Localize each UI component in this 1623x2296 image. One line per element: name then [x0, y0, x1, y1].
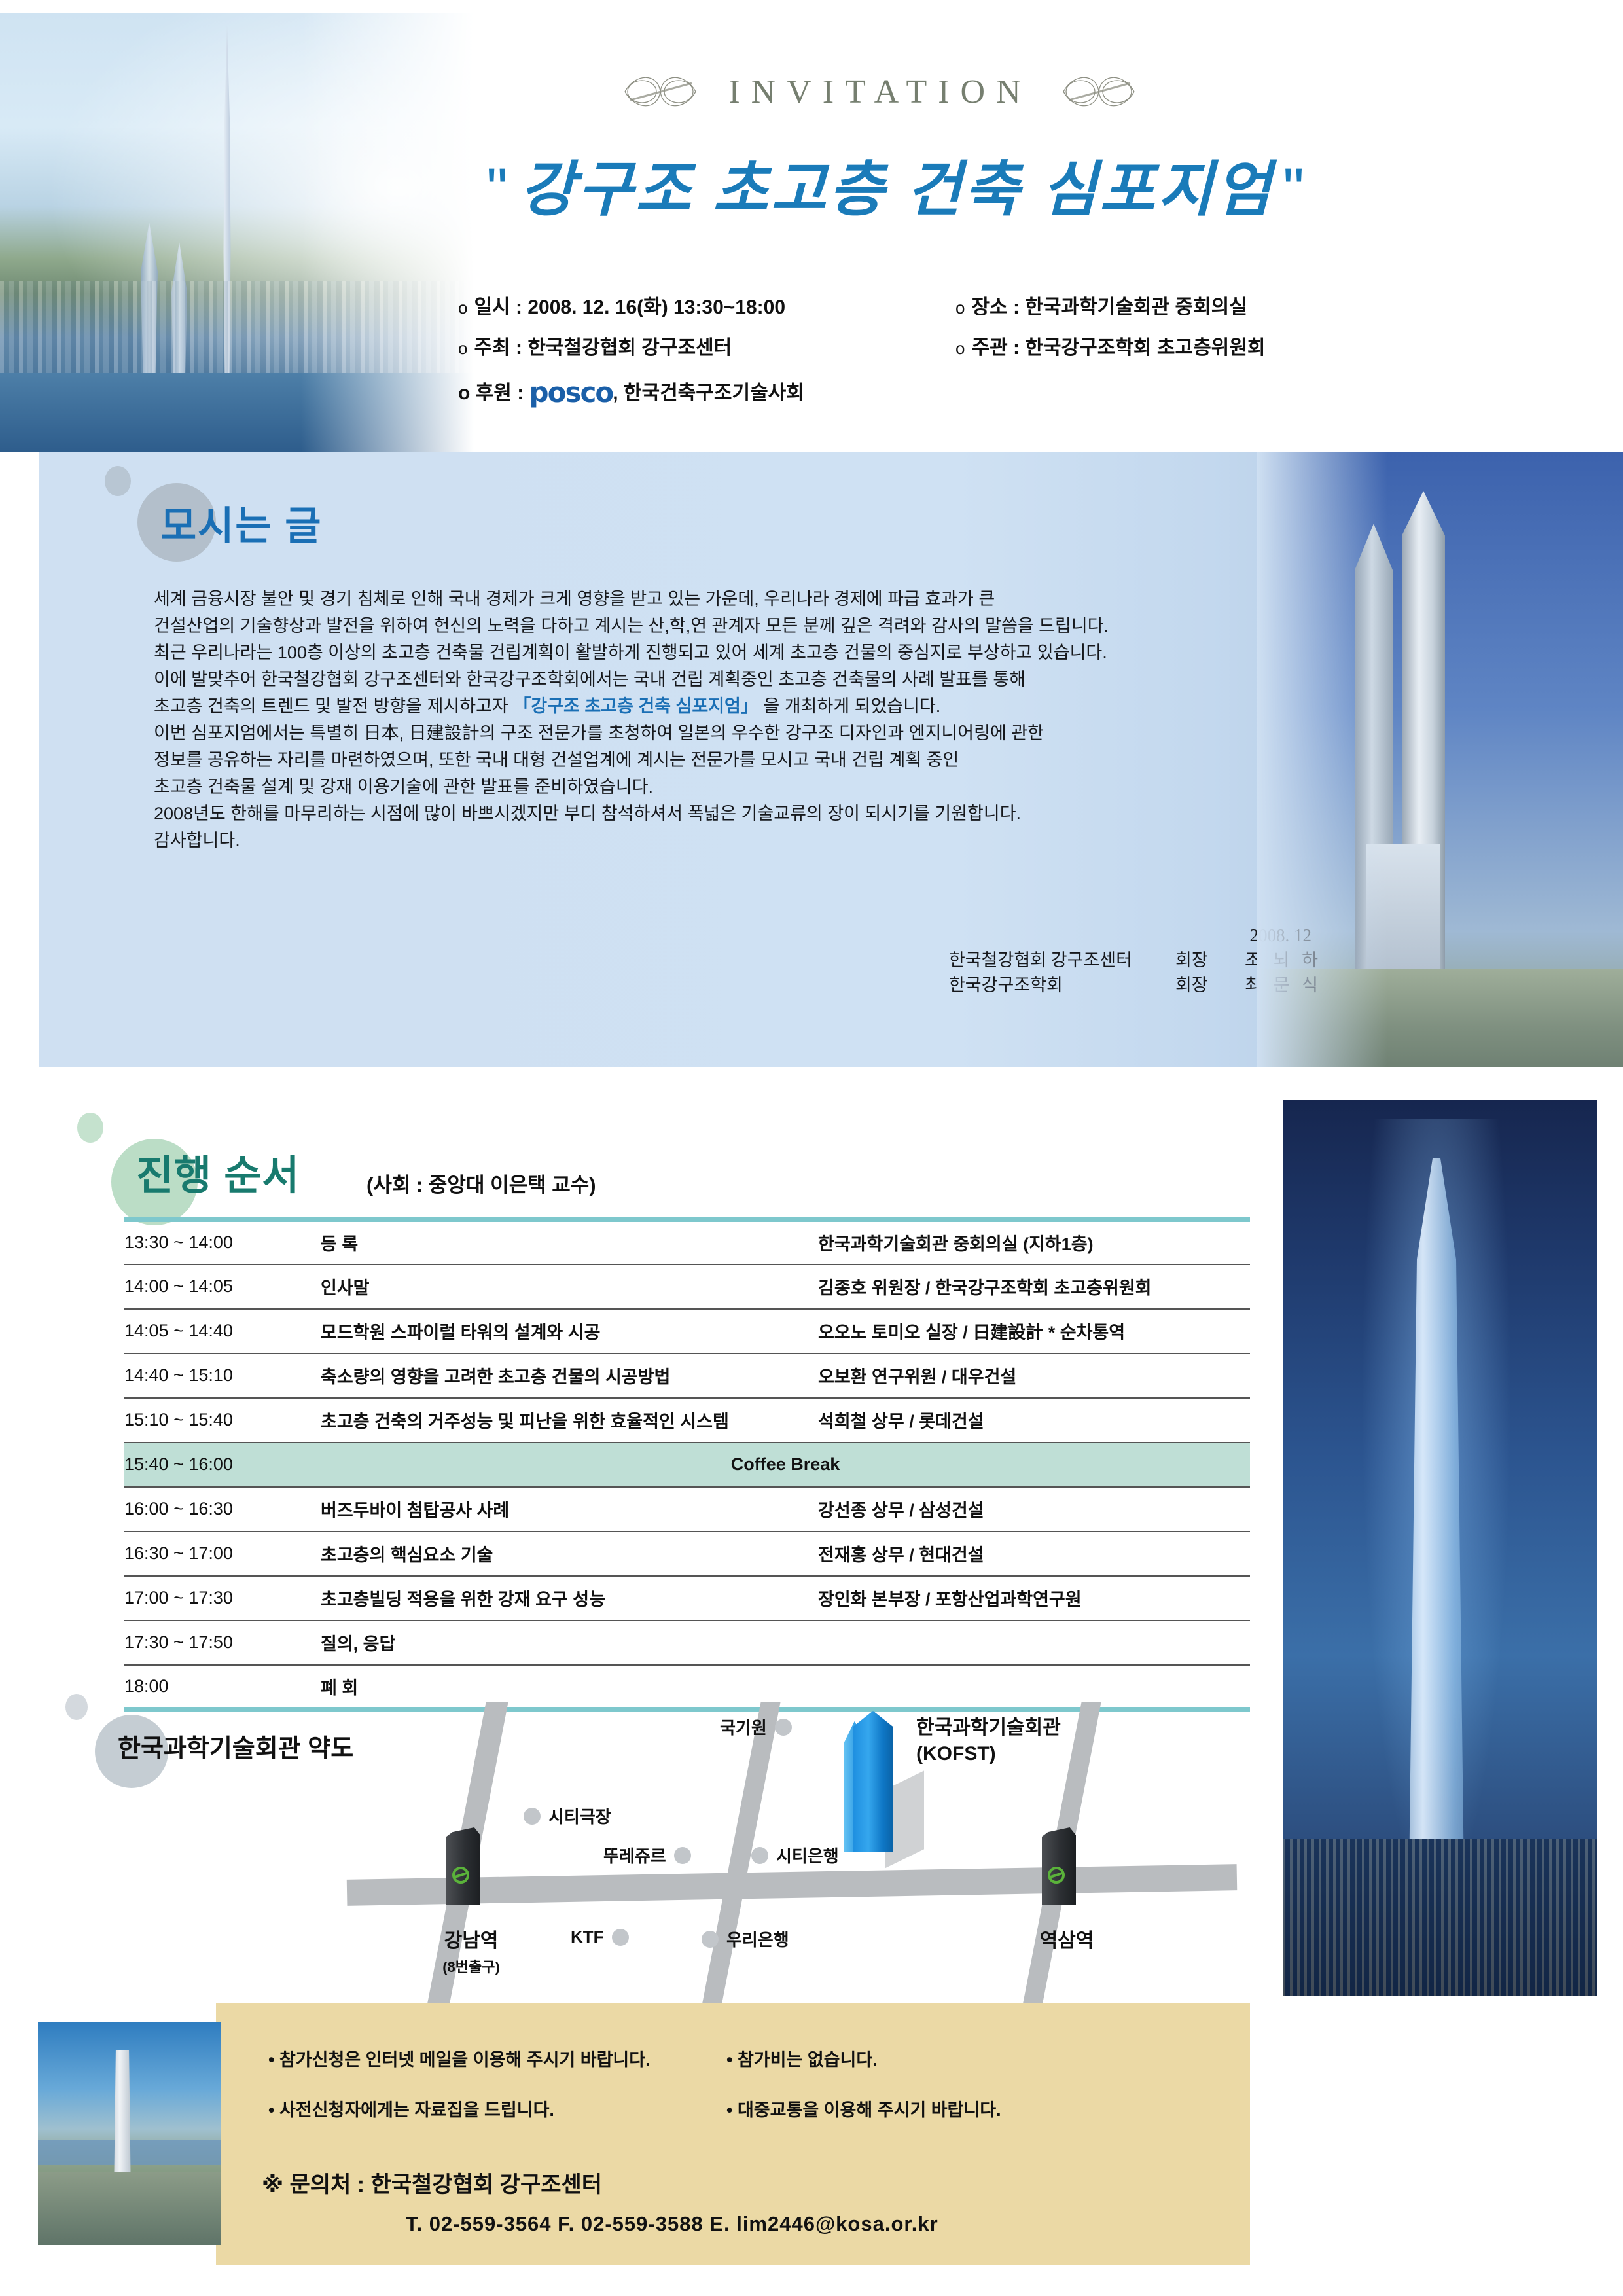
poi-ktf: KTF — [571, 1927, 629, 1947]
footer-note: 사전신청자에게는 자료집을 드립니다. — [268, 2096, 726, 2121]
row-speaker: 한국과학기술회관 중회의실 (지하1층) — [818, 1220, 1250, 1265]
row-speaker: 김종호 위원장 / 한국강구조학회 초고층위원회 — [818, 1265, 1250, 1309]
detail-bullet-icon: o — [458, 338, 467, 358]
program-moderator: (사회 : 중앙대 이은택 교수) — [366, 1168, 596, 1198]
detail-date-label: 일시 : 2008. 12. 16(화) 13:30~18:00 — [474, 296, 785, 318]
row-time: 17:00 ~ 17:30 — [124, 1576, 321, 1621]
detail-bullet-icon: o — [955, 298, 965, 317]
row-time: 13:30 ~ 14:00 — [124, 1220, 321, 1265]
poi-label: 뚜레쥬르 — [603, 1843, 666, 1867]
row-time: 18:00 — [124, 1665, 321, 1710]
row-time: 14:00 ~ 14:05 — [124, 1265, 321, 1309]
row-time: 14:40 ~ 15:10 — [124, 1354, 321, 1398]
posco-logo: posco — [529, 376, 613, 408]
table-row: 17:00 ~ 17:30 초고층빌딩 적용을 위한 강재 요구 성능 장인화 … — [124, 1576, 1250, 1621]
program-heading: 진행 순서 — [136, 1142, 300, 1201]
footer-contact-details: T. 02-559-3564 F. 02-559-3588 E. lim2446… — [406, 2212, 938, 2236]
table-row: 17:30 ~ 17:50 질의, 응답 — [124, 1621, 1250, 1665]
signature-org: 한국철강협회 강구조센터 — [949, 948, 1165, 973]
detail-venue: o장소 : 한국과학기술회관 중회의실 — [955, 298, 1492, 317]
flourish-right-icon — [1057, 69, 1142, 115]
row-time: 16:00 ~ 16:30 — [124, 1487, 321, 1532]
greeting-body: 세계 금융시장 불안 및 경기 침체로 인해 국내 경제가 크게 영향을 받고 … — [154, 586, 1266, 854]
footer-contact-label: ※ 문의처 : 한국철강협회 강구조센터 — [262, 2166, 602, 2198]
greeting-line-highlight: 초고층 건축의 트렌드 및 발전 방향을 제시하고자 「강구조 초고층 건축 심… — [154, 693, 1266, 720]
row-topic: 등 록 — [321, 1220, 818, 1265]
side-night-tower-image — [1283, 1100, 1597, 1996]
invitation-word: INVITATION — [728, 73, 1031, 111]
greeting-section: 모시는 글 세계 금융시장 불안 및 경기 침체로 인해 국내 경제가 크게 영… — [39, 452, 1623, 1067]
highlight-after: 을 개최하게 되었습니다. — [758, 696, 940, 716]
detail-sponsor: o 후원 : posco, 한국건축구조기술사회 — [458, 379, 1492, 406]
detail-venue-label: 장소 : 한국과학기술회관 중회의실 — [971, 296, 1247, 318]
table-row: 13:30 ~ 14:00 등 록 한국과학기술회관 중회의실 (지하1층) — [124, 1220, 1250, 1265]
hero-cityscape — [0, 281, 497, 373]
title-open-quote: " — [477, 156, 520, 223]
row-speaker — [818, 1621, 1250, 1665]
program-accent-dot-small — [77, 1113, 103, 1143]
footer-note: 대중교통을 이용해 주시기 바랍니다. — [726, 2096, 1067, 2121]
map-accent-dot-small — [65, 1694, 88, 1720]
row-topic: 질의, 응답 — [321, 1621, 818, 1665]
row-speaker: 전재홍 상무 / 현대건설 — [818, 1532, 1250, 1576]
event-details: o일시 : 2008. 12. 16(화) 13:30~18:00 o장소 : … — [458, 298, 1518, 406]
detail-bullet-icon: o — [955, 338, 965, 358]
kofst-name-kr: 한국과학기술회관 — [916, 1715, 1061, 1741]
poi-label: KTF — [571, 1927, 604, 1947]
table-row: 15:10 ~ 15:40 초고층 건축의 거주성능 및 피난을 위한 효율적인… — [124, 1398, 1250, 1443]
detail-date: o일시 : 2008. 12. 16(화) 13:30~18:00 — [458, 298, 955, 317]
greeting-accent-dot-small — [105, 466, 131, 496]
table-row: 16:30 ~ 17:00 초고층의 핵심요소 기술 전재홍 상무 / 현대건설 — [124, 1532, 1250, 1576]
poi-city-theater: 시티극장 — [524, 1804, 611, 1828]
greeting-line: 이에 발맞추어 한국철강협회 강구조센터와 한국강구조학회에서는 국내 건립 계… — [154, 666, 1266, 693]
station-marker-yeoksam — [1042, 1827, 1076, 1905]
map-title: 한국과학기술회관 약도 — [118, 1728, 353, 1764]
row-topic: 인사말 — [321, 1265, 818, 1309]
kofst-building-icon — [844, 1702, 901, 1852]
subway-logo-icon — [452, 1867, 469, 1884]
poi-label: 시티은행 — [776, 1843, 839, 1867]
signature-role: 회장 — [1175, 948, 1234, 973]
row-speaker: 장인화 본부장 / 포항산업과학연구원 — [818, 1576, 1250, 1621]
footer-ground — [38, 2172, 221, 2245]
location-map: 한국과학기술회관 (KOFST) 국기원 시티극장 뚜레쥬르 시티은행 KTF … — [327, 1676, 1257, 2009]
greeting-line: 감사합니다. — [154, 827, 1266, 854]
row-topic: 초고층 건축의 거주성능 및 피난을 위한 효율적인 시스템 — [321, 1398, 818, 1443]
table-row-coffee-break: 15:40 ~ 16:00 Coffee Break — [124, 1443, 1250, 1487]
poi-dot-icon — [612, 1929, 629, 1946]
row-speaker: 석희철 상무 / 롯데건설 — [818, 1398, 1250, 1443]
station-label-gangnam: 강남역 (8번출구) — [412, 1924, 530, 1977]
program-schedule-table: 13:30 ~ 14:00 등 록 한국과학기술회관 중회의실 (지하1층) 1… — [124, 1217, 1250, 1712]
station-exit: (8번출구) — [412, 1956, 530, 1977]
row-time: 16:30 ~ 17:00 — [124, 1532, 321, 1576]
greeting-line: 최근 우리나라는 100층 이상의 초고층 건축물 건립계획이 활발하게 진행되… — [154, 639, 1266, 666]
signature-org: 한국강구조학회 — [949, 973, 1165, 997]
poi-dot-icon — [674, 1847, 691, 1864]
row-topic: Coffee Break — [321, 1443, 1250, 1487]
poi-woori-bank: 우리은행 — [702, 1927, 789, 1951]
subway-marker-icon — [1042, 1827, 1076, 1905]
detail-host: o주최 : 한국철강협회 강구조센터 — [458, 338, 955, 358]
highlight-before: 초고층 건축의 트렌드 및 발전 방향을 제시하고자 — [154, 696, 513, 716]
row-topic: 초고층빌딩 적용을 위한 강재 요구 성능 — [321, 1576, 818, 1621]
flourish-left-icon — [618, 69, 704, 115]
detail-host-label: 주최 : 한국철강협회 강구조센터 — [474, 337, 732, 359]
detail-organizer-label: 주관 : 한국강구조학회 초고층위원회 — [971, 337, 1265, 359]
poi-citibank: 시티은행 — [751, 1843, 839, 1867]
row-speaker: 강선종 상무 / 삼성건설 — [818, 1487, 1250, 1532]
greeting-line: 세계 금융시장 불안 및 경기 침체로 인해 국내 경제가 크게 영향을 받고 … — [154, 586, 1266, 613]
poi-dot-icon — [775, 1719, 792, 1736]
row-topic: 초고층의 핵심요소 기술 — [321, 1532, 818, 1576]
signature-role: 회장 — [1175, 973, 1234, 997]
station-marker-gangnam — [446, 1827, 480, 1905]
station-label-yeoksam: 역삼역 — [1008, 1924, 1126, 1953]
poster-title: "강구조 초고층 건축 심포지엄" — [366, 141, 1427, 228]
station-name: 강남역 — [444, 1930, 499, 1952]
side-city-lights — [1283, 1839, 1597, 1996]
poi-label: 국기원 — [720, 1715, 767, 1739]
hero-water — [0, 373, 497, 452]
sponsor-prefix: o 후원 : — [458, 382, 529, 404]
station-name: 역삼역 — [1040, 1930, 1094, 1952]
poi-dot-icon — [751, 1847, 768, 1864]
footer-notes: 참가신청은 인터넷 메일을 이용해 주시기 바랍니다. 참가비는 없습니다. 사… — [268, 2045, 1054, 2121]
kofst-main-block — [853, 1711, 893, 1852]
greeting-heading: 모시는 글 — [160, 494, 322, 551]
kofst-label: 한국과학기술회관 (KOFST) — [916, 1715, 1061, 1767]
row-speaker: 오보환 연구위원 / 대우건설 — [818, 1354, 1250, 1398]
row-time: 14:05 ~ 14:40 — [124, 1309, 321, 1354]
greeting-line: 건설산업의 기술향상과 발전을 위하여 헌신의 노력을 다하고 계시는 산,학,… — [154, 613, 1266, 639]
sponsor-suffix: , 한국건축구조기술사회 — [613, 382, 804, 404]
poi-dot-icon — [702, 1931, 719, 1948]
table-row: 16:00 ~ 16:30 버즈두바이 첨탑공사 사례 강선종 상무 / 삼성건… — [124, 1487, 1250, 1532]
poi-tous-les-jours: 뚜레쥬르 — [603, 1843, 691, 1867]
poster-page: INVITATION "강구조 초고층 건축 심포지엄" o일시 : 2008.… — [0, 0, 1623, 2296]
hero-section: INVITATION "강구조 초고층 건축 심포지엄" o일시 : 2008.… — [0, 0, 1623, 452]
poi-label: 시티극장 — [548, 1804, 611, 1828]
table-row: 14:40 ~ 15:10 축소량의 영향을 고려한 초고층 건물의 시공방법 … — [124, 1354, 1250, 1398]
footer-thumbnail-image — [38, 2022, 221, 2245]
row-time: 15:10 ~ 15:40 — [124, 1398, 321, 1443]
detail-bullet-icon: o — [458, 298, 467, 317]
poi-label: 우리은행 — [726, 1927, 789, 1951]
invitation-banner: INVITATION — [458, 62, 1302, 121]
greeting-line: 2008년도 한해를 마무리하는 시점에 많이 바쁘시겠지만 부디 참석하셔서 … — [154, 800, 1266, 827]
row-time: 15:40 ~ 16:00 — [124, 1443, 321, 1487]
detail-organizer: o주관 : 한국강구조학회 초고층위원회 — [955, 338, 1492, 358]
greeting-line: 초고층 건축물 설계 및 강재 이용기술에 관한 발표를 준비하였습니다. — [154, 774, 1266, 800]
footer-note: 참가비는 없습니다. — [726, 2045, 1067, 2071]
row-speaker: 오오노 토미오 실장 / 日建設計 * 순차통역 — [818, 1309, 1250, 1354]
poi-gukgiwon: 국기원 — [720, 1715, 792, 1739]
greeting-tower-back — [1355, 524, 1393, 988]
kofst-name-en: (KOFST) — [916, 1741, 1061, 1767]
greeting-line: 정보를 공유하는 자리를 마련하였으며, 또한 국내 대형 건설업계에 계시는 … — [154, 747, 1266, 774]
title-text: 강구조 초고층 건축 심포지엄 — [520, 156, 1274, 223]
row-topic: 모드학원 스파이럴 타워의 설계와 시공 — [321, 1309, 818, 1354]
symposium-title-highlight: 「강구조 초고층 건축 심포지엄」 — [513, 696, 758, 716]
table-row: 14:05 ~ 14:40 모드학원 스파이럴 타워의 설계와 시공 오오노 토… — [124, 1309, 1250, 1354]
row-topic: 축소량의 영향을 고려한 초고층 건물의 시공방법 — [321, 1354, 818, 1398]
footer-note: 참가신청은 인터넷 메일을 이용해 주시기 바랍니다. — [268, 2045, 726, 2071]
row-topic: 버즈두바이 첨탑공사 사례 — [321, 1487, 818, 1532]
title-close-quote: " — [1274, 156, 1316, 223]
greeting-tower-image — [1257, 452, 1623, 1067]
table-row: 14:00 ~ 14:05 인사말 김종호 위원장 / 한국강구조학회 초고층위… — [124, 1265, 1250, 1309]
subway-marker-icon — [446, 1827, 480, 1905]
poi-dot-icon — [524, 1808, 541, 1825]
row-time: 17:30 ~ 17:50 — [124, 1621, 321, 1665]
greeting-ground — [1257, 969, 1623, 1067]
hero-skyline-image — [0, 13, 497, 452]
subway-logo-icon — [1048, 1867, 1065, 1884]
greeting-line: 이번 심포지엄에서는 특별히 日本, 日建設計의 구조 전문가를 초청하여 일본… — [154, 720, 1266, 747]
